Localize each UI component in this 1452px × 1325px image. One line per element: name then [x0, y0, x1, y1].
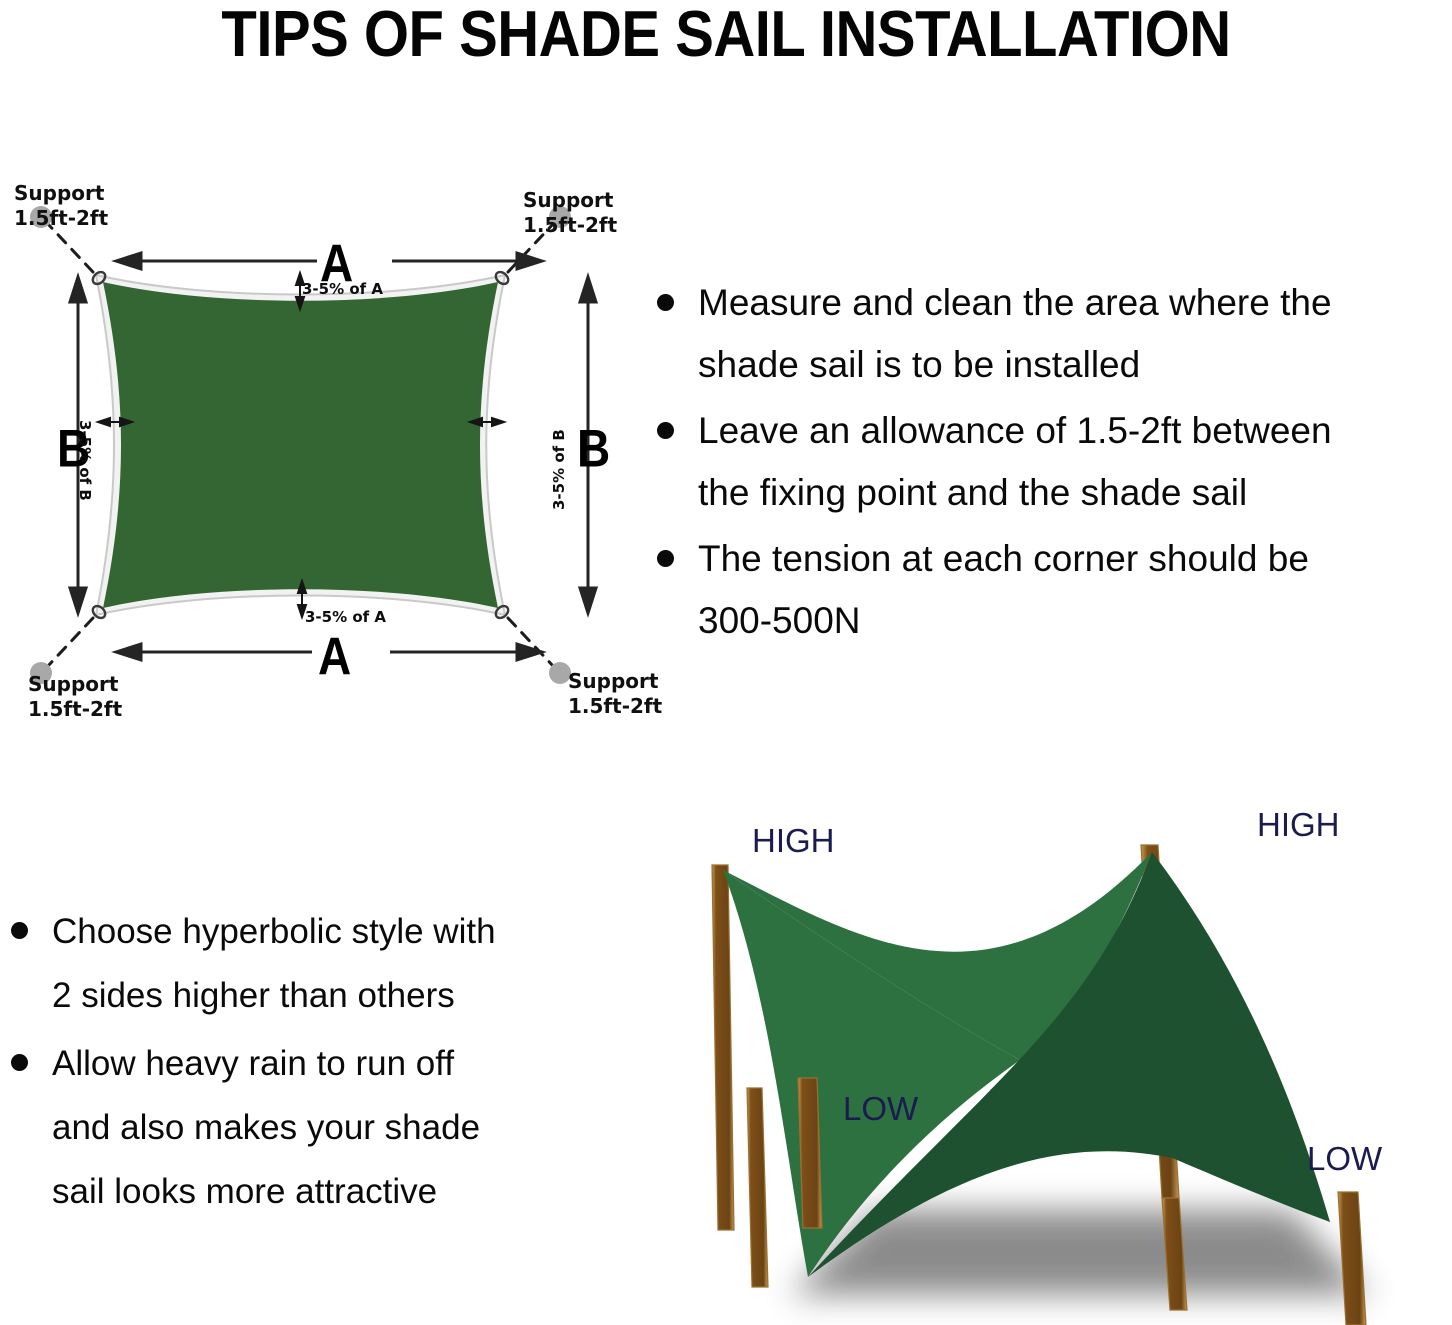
curve-label-left: 3-5% of B — [77, 420, 93, 501]
hyperbolic-sail-svg — [690, 790, 1452, 1325]
curve-label-top: 3-5% of A — [302, 281, 383, 297]
bullet-dot-icon — [11, 922, 28, 939]
bullet-dot-icon — [11, 1054, 28, 1071]
support-label-line1: Support — [28, 672, 122, 697]
bullet-dot-icon — [657, 550, 674, 567]
list-item-line: and also makes your shade — [52, 1096, 640, 1160]
bullet-dot-icon — [657, 422, 674, 439]
list-item: Leave an allowance of 1.5-2ft between th… — [646, 400, 1452, 524]
support-label-line1: Support — [523, 188, 617, 213]
curve-label-right: 3-5% of B — [551, 429, 567, 510]
support-label-line2: 1.5ft-2ft — [28, 697, 122, 722]
curve-label-bottom: 3-5% of A — [305, 609, 386, 625]
list-item-line: the fixing point and the shade sail — [698, 462, 1452, 524]
list-item-line: The tension at each corner should be — [698, 528, 1452, 590]
list-item: Choose hyperbolic style with 2 sides hig… — [0, 900, 640, 1028]
list-item: Measure and clean the area where the sha… — [646, 272, 1452, 396]
support-label-top-right: Support 1.5ft-2ft — [523, 188, 617, 238]
list-item: Allow heavy rain to run off and also mak… — [0, 1032, 640, 1224]
installation-tips-list: Measure and clean the area where the sha… — [646, 272, 1452, 656]
list-item-line: 300-500N — [698, 590, 1452, 652]
support-label-bottom-right: Support 1.5ft-2ft — [568, 669, 662, 719]
support-label-line2: 1.5ft-2ft — [14, 206, 108, 231]
pole-high-left — [712, 865, 734, 1230]
support-label-line1: Support — [14, 181, 108, 206]
hyperbolic-sail-diagram — [690, 790, 1452, 1325]
label-low-right: LOW — [1307, 1142, 1382, 1175]
support-label-line2: 1.5ft-2ft — [568, 694, 662, 719]
page-title: TIPS OF SHADE SAIL INSTALLATION — [0, 0, 1452, 78]
pole-low-right — [1338, 1192, 1366, 1325]
list-item-line: Measure and clean the area where the — [698, 272, 1452, 334]
list-item-line: Leave an allowance of 1.5-2ft between — [698, 400, 1452, 462]
bullet-dot-icon — [657, 294, 674, 311]
pole-low-left-back — [747, 1088, 768, 1287]
label-high-left: HIGH — [752, 824, 835, 857]
hyperbolic-style-tips-list: Choose hyperbolic style with 2 sides hig… — [0, 900, 640, 1228]
list-item-line: 2 sides higher than others — [52, 964, 640, 1028]
list-item-line: sail looks more attractive — [52, 1160, 640, 1224]
support-label-line2: 1.5ft-2ft — [523, 213, 617, 238]
list-item-line: Allow heavy rain to run off — [52, 1032, 640, 1096]
label-low-left: LOW — [843, 1092, 918, 1125]
support-label-bottom-left: Support 1.5ft-2ft — [28, 672, 122, 722]
dimension-letter-a-bottom: A — [318, 630, 351, 683]
label-high-right: HIGH — [1257, 808, 1340, 841]
support-label-line1: Support — [568, 669, 662, 694]
support-label-top-left: Support 1.5ft-2ft — [14, 181, 108, 231]
list-item-line: shade sail is to be installed — [698, 334, 1452, 396]
sail-body — [103, 282, 498, 608]
dimension-letter-b-right: B — [577, 422, 610, 475]
list-item: The tension at each corner should be 300… — [646, 528, 1452, 652]
infographic-page: TIPS OF SHADE SAIL INSTALLATION — [0, 0, 1452, 1325]
list-item-line: Choose hyperbolic style with — [52, 900, 640, 964]
